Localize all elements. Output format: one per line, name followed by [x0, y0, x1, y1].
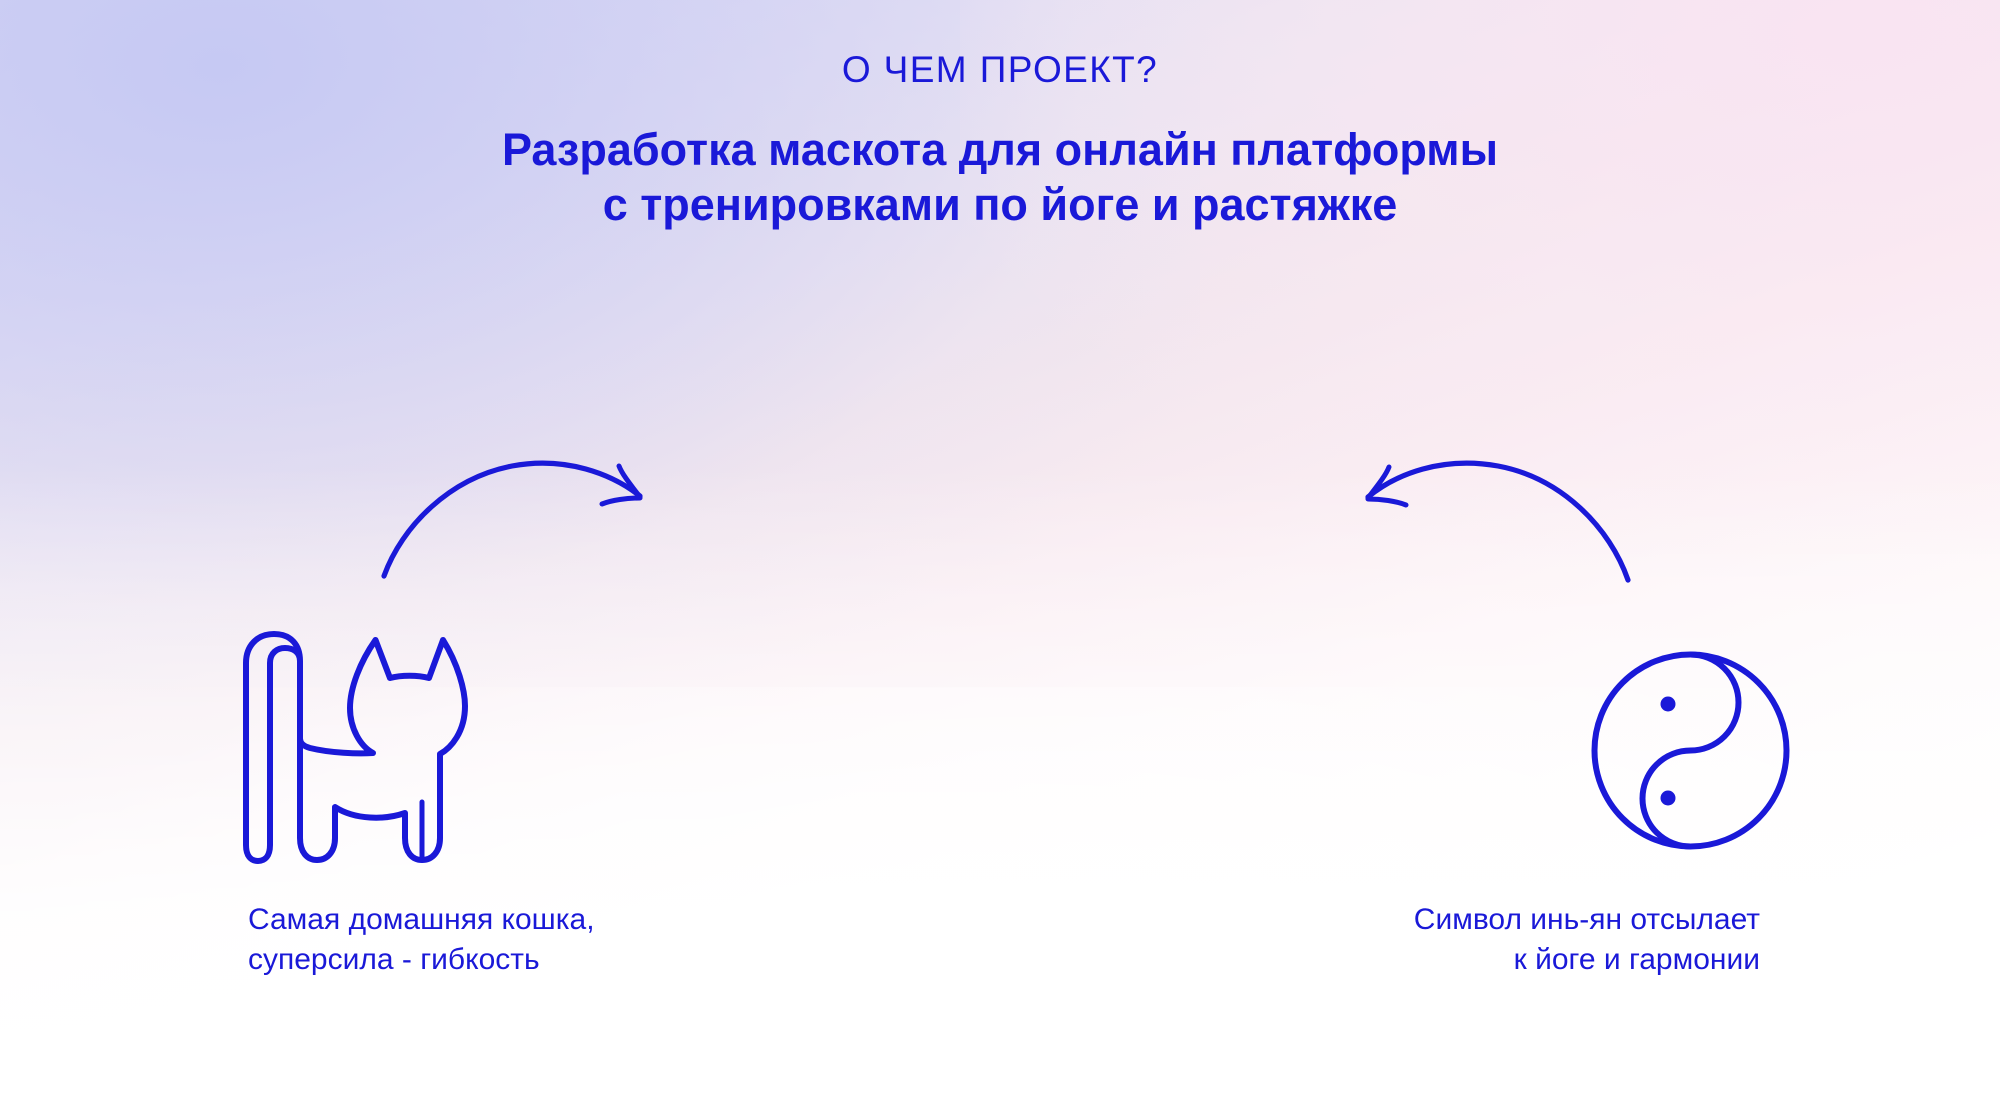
- callout-right-text: Символ инь-ян отсылает к йоге и гармонии: [1414, 900, 1760, 980]
- curved-arrow-left-icon: [1300, 440, 1640, 640]
- page-title: Разработка маскота для онлайн платформы …: [0, 123, 2000, 233]
- callout-left-line-1: Самая домашняя кошка,: [248, 900, 595, 940]
- callout-right-line-1: Символ инь-ян отсылает: [1414, 900, 1760, 940]
- page-title-line-1: Разработка маскота для онлайн платформы: [0, 123, 2000, 178]
- cat-outline-icon: [240, 620, 490, 870]
- callout-left-line-2: суперсила - гибкость: [248, 940, 595, 980]
- page-title-line-2: с тренировками по йоге и растяжке: [0, 178, 2000, 233]
- curved-arrow-right-icon: [372, 440, 702, 640]
- yin-yang-icon: [1588, 648, 1793, 853]
- page-eyebrow: О ЧЕМ ПРОЕКТ?: [0, 50, 2000, 91]
- callout-left-text: Самая домашняя кошка, суперсила - гибкос…: [248, 900, 595, 980]
- slide-canvas: О ЧЕМ ПРОЕКТ? Разработка маскота для онл…: [0, 0, 2000, 1108]
- callout-right-line-2: к йоге и гармонии: [1414, 940, 1760, 980]
